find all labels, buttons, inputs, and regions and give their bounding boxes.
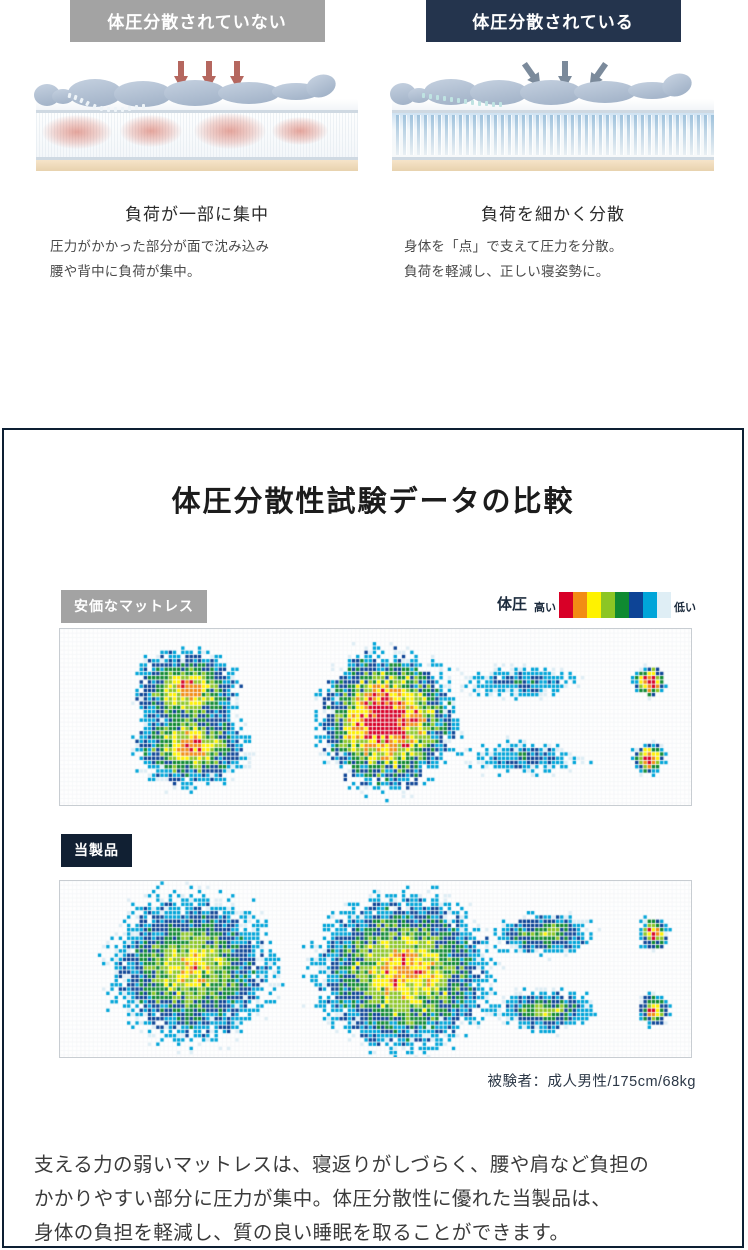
spine-curved (68, 97, 148, 101)
spring-coil (452, 115, 455, 155)
spring-coil (508, 115, 511, 155)
legend-swatch (573, 592, 587, 618)
spring-coil (578, 115, 581, 155)
heatmap-this-product (59, 880, 692, 1058)
subject-note: 被験者：成人男性/175cm/68kg (487, 1070, 696, 1091)
mattress-wood-base (36, 160, 358, 171)
spring-coil (697, 115, 700, 155)
spring-coil (487, 115, 490, 155)
spring-coil (676, 115, 679, 155)
test-data-panel: 体圧分散性試験データの比較 安価なマットレス 体圧 高い 低い 当製品 被験者：… (2, 428, 744, 1248)
badge-not-distributed: 体圧分散されていない (70, 0, 325, 42)
summary-line2: かかりやすい部分に圧力が集中。体圧分散性に優れた当製品は、 (34, 1182, 724, 1216)
legend-swatch (587, 592, 601, 618)
spring-coil (515, 115, 518, 155)
legend-swatch (601, 592, 615, 618)
spring-coil (620, 115, 623, 155)
map-label-this-product: 当製品 (61, 834, 132, 867)
summary-line1: 支える力の弱いマットレスは、寝返りがしづらく、腰や肩など負担の (34, 1148, 724, 1182)
spring-coil (564, 115, 567, 155)
legend-low-label: 低い (674, 599, 696, 615)
caption-title-bad: 負荷が一部に集中 (22, 200, 372, 225)
legend-row: 安価なマットレス 体圧 高い 低い (4, 590, 742, 624)
spring-coil (571, 115, 574, 155)
spring-coil (466, 115, 469, 155)
spring-coil (550, 115, 553, 155)
caption-body-good: 身体を「点」で支えて圧力を分散。 負荷を軽減し、正しい寝姿勢に。 (378, 235, 728, 285)
spring-coil (606, 115, 609, 155)
spring-coil (459, 115, 462, 155)
spring-coil (445, 115, 448, 155)
caption-body-bad: 圧力がかかった部分が面で沈み込み 腰や背中に負荷が集中。 (22, 235, 372, 285)
legend-swatch (657, 592, 671, 618)
spring-coil (403, 115, 406, 155)
spring-coil (410, 115, 413, 155)
caption-bad-line1: 圧力がかかった部分が面で沈み込み (50, 235, 372, 260)
heatmap-cheap-mattress (59, 628, 692, 806)
spring-coil (704, 115, 707, 155)
spring-coil (599, 115, 602, 155)
spring-coil (417, 115, 420, 155)
spring-coil (396, 115, 399, 155)
caption-bad-line2: 腰や背中に負荷が集中。 (50, 260, 372, 285)
spring-coil (585, 115, 588, 155)
spring-coil (424, 115, 427, 155)
spring-coil (634, 115, 637, 155)
spring-coil (662, 115, 665, 155)
spring-coil (669, 115, 672, 155)
caption-title-good: 負荷を細かく分散 (378, 200, 728, 225)
spring-coil (592, 115, 595, 155)
mattress-core-foam (36, 113, 358, 157)
spring-coil (648, 115, 651, 155)
legend-title: 体圧 (497, 593, 527, 614)
spring-coil (529, 115, 532, 155)
spring-coil (690, 115, 693, 155)
spring-coil (557, 115, 560, 155)
human-figure-bad-posture (32, 73, 337, 119)
spring-coil (480, 115, 483, 155)
map-label-cheap-mattress: 安価なマットレス (61, 590, 207, 623)
legend-swatch (629, 592, 643, 618)
caption-good-line2: 負荷を軽減し、正しい寝姿勢に。 (404, 260, 728, 285)
spring-coil (522, 115, 525, 155)
badge-distributed: 体圧分散されている (426, 0, 681, 42)
summary-line3: 身体の負担を軽減し、質の良い睡眠を取ることができます。 (34, 1216, 724, 1250)
illustration-good-mattress (378, 59, 728, 184)
pressure-comparison-section: 体圧分散されていない (0, 0, 748, 400)
legend-swatch (643, 592, 657, 618)
summary-paragraph: 支える力の弱いマットレスは、寝返りがしづらく、腰や肩など負担の かかりやすい部分… (34, 1148, 724, 1250)
spring-coil (543, 115, 546, 155)
spring-coil (655, 115, 658, 155)
legend-high-label: 高い (534, 599, 556, 615)
spring-coil (473, 115, 476, 155)
spring-coil (613, 115, 616, 155)
spring-coil (627, 115, 630, 155)
spring-coil (501, 115, 504, 155)
illustration-bad-mattress (22, 59, 372, 184)
spine-straight (422, 93, 508, 97)
legend-swatch (615, 592, 629, 618)
spring-coil (494, 115, 497, 155)
comparison-column-bad: 体圧分散されていない (22, 0, 372, 285)
spring-coil (641, 115, 644, 155)
comparison-column-good: 体圧分散されている (378, 0, 728, 285)
spring-coil (438, 115, 441, 155)
panel-title: 体圧分散性試験データの比較 (4, 478, 742, 520)
spring-coil (683, 115, 686, 155)
pocket-coil-springs (392, 113, 714, 157)
human-figure-good-posture (388, 73, 693, 119)
spring-coil (711, 115, 714, 155)
spring-coil (536, 115, 539, 155)
legend-swatch (559, 592, 573, 618)
caption-good-line1: 身体を「点」で支えて圧力を分散。 (404, 235, 728, 260)
spring-coil (431, 115, 434, 155)
pressure-legend: 体圧 高い 低い (497, 592, 696, 618)
mattress-wood-base (392, 160, 714, 171)
legend-color-bar (559, 592, 671, 618)
